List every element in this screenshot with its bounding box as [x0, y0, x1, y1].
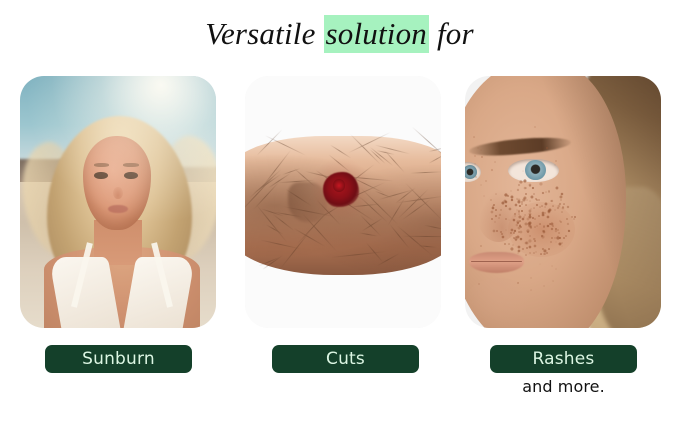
lips — [108, 205, 128, 214]
photo-cuts — [245, 76, 441, 328]
photo-rashes-illustration — [465, 76, 661, 328]
photo-row — [20, 76, 665, 328]
eyebrow-right — [123, 163, 139, 167]
photo-rashes — [465, 76, 661, 328]
label-cuts: Cuts — [272, 345, 419, 373]
and-more-text: and more. — [490, 377, 637, 396]
photo-sunburn-illustration — [20, 76, 216, 328]
headline-text-after: for — [429, 16, 474, 51]
headline-text-before: Versatile — [205, 16, 323, 51]
headline-highlight-word: solution — [324, 15, 430, 53]
eyebrow-left — [94, 163, 110, 167]
photo-sunburn — [20, 76, 216, 328]
eye-right — [124, 172, 138, 180]
page-title: Versatile solution for — [0, 14, 679, 54]
blood-spot — [333, 179, 345, 192]
label-rashes: Rashes — [490, 345, 637, 373]
label-sunburn: Sunburn — [45, 345, 192, 373]
photo-cuts-illustration — [245, 76, 441, 328]
portrait-shadow — [465, 76, 661, 328]
